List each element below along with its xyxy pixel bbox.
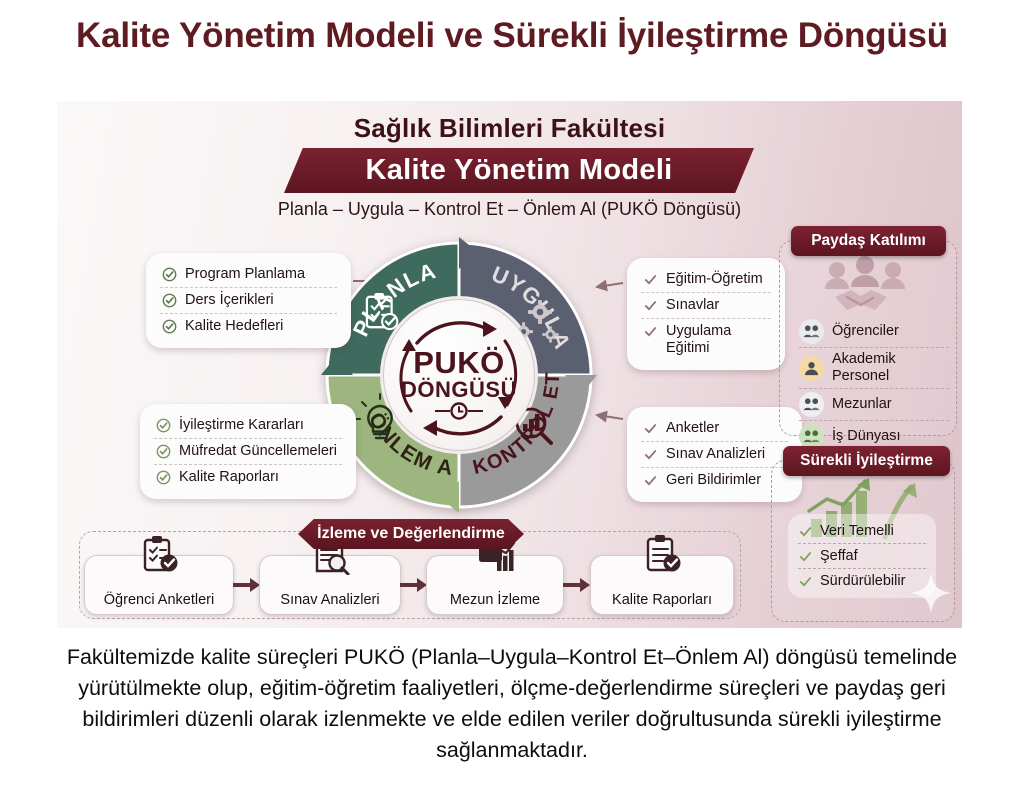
check-circle-icon	[156, 470, 171, 485]
list-item-label: İyileştirme Kararları	[179, 417, 304, 434]
check-circle-icon	[156, 418, 171, 433]
puko-cycle-wheel: PLANLA UYGULA KONTROL ET ÖNLEM AL	[319, 235, 599, 515]
list-item: Anketler	[641, 416, 788, 442]
check-icon	[798, 524, 813, 539]
check-circle-icon	[156, 444, 171, 459]
list-item: İyileştirme Kararları	[154, 413, 342, 439]
improvement-banner: Sürekli İyileştirme	[783, 446, 950, 476]
list-item-label: Program Planlama	[185, 266, 305, 283]
list-item-label: İş Dünyası	[832, 428, 901, 445]
improvement-banner-label: Sürekli İyileştirme	[800, 452, 933, 470]
list-item: Sınav Analizleri	[641, 442, 788, 468]
list-item: Kalite Raporları	[154, 465, 342, 490]
flow-step-kalite-raporlari[interactable]: Kalite Raporları	[590, 555, 734, 615]
list-item-label: Eğitim-Öğretim	[666, 271, 763, 288]
list-item-label: Uygulama Eğitimi	[666, 323, 769, 357]
list-item: Akademik Personel	[799, 348, 949, 389]
flow-step-sinav-analizleri[interactable]: Sınav Analizleri	[259, 555, 401, 615]
list-item-label: Geri Bildirimler	[666, 472, 761, 489]
stakeholders-banner-label: Paydaş Katılımı	[811, 232, 926, 250]
list-item-label: Kalite Hedefleri	[185, 318, 283, 335]
list-item: Sınavlar	[641, 293, 771, 319]
check-icon	[798, 549, 813, 564]
list-item: Müfredat Güncellemeleri	[154, 439, 342, 465]
list-item-label: Veri Temelli	[820, 523, 894, 539]
list-item-label: Müfredat Güncellemeleri	[179, 443, 337, 460]
card-planla: Program Planlama Ders İçerikleri Kalite …	[146, 253, 351, 348]
flow-arrow-icon	[400, 577, 428, 593]
clipboard-check-icon	[137, 535, 181, 575]
list-item: Veri Temelli	[798, 519, 926, 544]
list-item: Uygulama Eğitimi	[641, 319, 771, 361]
check-circle-icon	[162, 319, 177, 334]
stakeholders-banner: Paydaş Katılımı	[791, 226, 946, 256]
card-uygula: Eğitim-Öğretim Sınavlar Uygulama Eğitimi	[627, 258, 785, 370]
handshake-icon	[817, 253, 913, 315]
person-tie-icon	[799, 356, 824, 381]
flow-step-label: Öğrenci Anketleri	[104, 592, 214, 608]
list-item-label: Sınav Analizleri	[666, 446, 765, 463]
list-item-label: Kalite Raporları	[179, 469, 279, 486]
stakeholders-list: Öğrenciler Akademik Personel Mezunlar İş…	[799, 316, 949, 452]
list-item: Program Planlama	[160, 262, 337, 288]
check-icon	[643, 272, 658, 287]
check-icon	[643, 421, 658, 436]
puko-core: PUKÖ DÖNGÜSÜ	[383, 299, 535, 451]
faculty-name: Sağlık Bilimleri Fakültesi	[57, 113, 962, 144]
page-title: Kalite Yönetim Modeli ve Sürekli İyileşt…	[0, 14, 1024, 58]
list-item-label: Akademik Personel	[832, 351, 949, 385]
list-item: Eğitim-Öğretim	[641, 267, 771, 293]
list-item-label: Anketler	[666, 420, 719, 437]
flow-step-label: Kalite Raporları	[612, 592, 712, 608]
clock-icon	[435, 404, 483, 419]
group-icon	[799, 392, 824, 417]
check-icon	[643, 447, 658, 462]
flow-step-mezun-izleme[interactable]: Mezun İzleme	[426, 555, 564, 615]
flow-step-label: Sınav Analizleri	[280, 592, 379, 608]
list-item-label: Sınavlar	[666, 297, 719, 314]
flow-step-ogrenci-anketleri[interactable]: Öğrenci Anketleri	[84, 555, 234, 615]
improvement-list: Veri Temelli Şeffaf Sürdürülebilir	[788, 514, 936, 598]
check-circle-icon	[162, 293, 177, 308]
caption-paragraph: Fakültemizde kalite süreçleri PUKÖ (Plan…	[60, 642, 964, 766]
list-item-label: Mezunlar	[832, 396, 892, 413]
list-item: Şeffaf	[798, 544, 926, 569]
list-item: Geri Bildirimler	[641, 468, 788, 493]
list-item-label: Öğrenciler	[832, 323, 899, 340]
cycle-subtitle: Planla – Uygula – Kontrol Et – Önlem Al …	[57, 199, 962, 220]
check-icon	[643, 324, 658, 339]
monitoring-banner-label: İzleme ve Değerlendirme	[317, 525, 505, 543]
list-item: Sürdürülebilir	[798, 569, 926, 593]
list-item: Ders İçerikleri	[160, 288, 337, 314]
report-check-icon	[640, 535, 684, 575]
card-onlem-al: İyileştirme Kararları Müfredat Güncellem…	[140, 404, 356, 499]
list-item: Mezunlar	[799, 389, 949, 421]
group-icon	[799, 319, 824, 344]
list-item-label: Sürdürülebilir	[820, 573, 905, 589]
flow-arrow-icon	[233, 577, 261, 593]
list-item-label: Şeffaf	[820, 548, 858, 564]
check-icon	[643, 298, 658, 313]
model-banner-label: Kalite Yönetim Modeli	[365, 154, 672, 187]
check-icon	[798, 574, 813, 589]
model-banner: Kalite Yönetim Modeli	[284, 148, 754, 193]
infographic-panel: Sağlık Bilimleri Fakültesi Kalite Yöneti…	[57, 101, 962, 628]
list-item-label: Ders İçerikleri	[185, 292, 274, 309]
flow-step-label: Mezun İzleme	[450, 592, 540, 608]
monitoring-banner: İzleme ve Değerlendirme	[298, 519, 524, 549]
check-icon	[643, 473, 658, 488]
check-circle-icon	[162, 267, 177, 282]
list-item: Öğrenciler	[799, 316, 949, 348]
flow-arrow-icon	[563, 577, 591, 593]
core-rotation-arrows	[383, 299, 535, 451]
list-item: Kalite Hedefleri	[160, 314, 337, 339]
